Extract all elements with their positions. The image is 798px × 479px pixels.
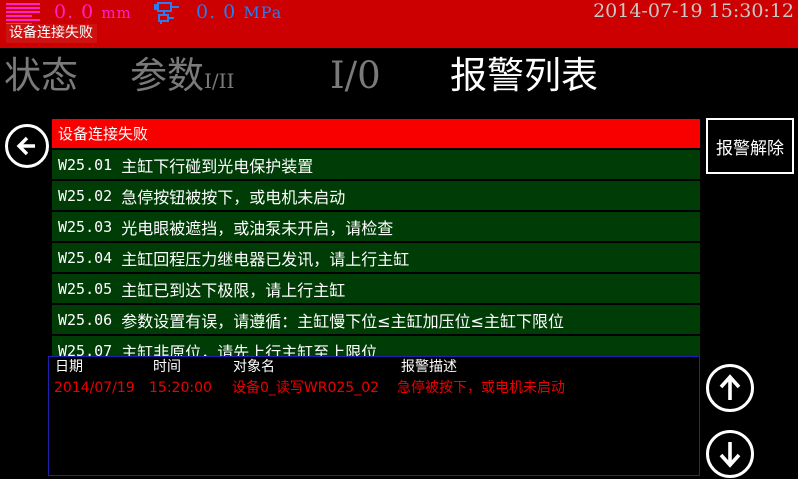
alarm-log-table[interactable]: 日期 时间 对象名 报警描述 2014/07/1915:20:00设备0_读写W… <box>48 356 700 476</box>
log-table-row[interactable]: 2014/07/1915:20:00设备0_读写WR025_02急停被按下，或电… <box>49 378 699 399</box>
hmi-screen: 0. 0 mm 0. 0 MPa 2014-07-19 15:30:12 设备连… <box>0 0 798 479</box>
tab-status[interactable]: 状态 <box>4 50 78 102</box>
alarm-code: W25.02 <box>52 187 112 205</box>
alarm-row[interactable]: W25.01主缸下行碰到光电保护装置 <box>52 150 700 179</box>
alarm-code: W25.05 <box>52 280 112 298</box>
tab-status-label: 状态 <box>4 54 78 97</box>
status-bar: 0. 0 mm 0. 0 MPa 2014-07-19 15:30:12 设备连… <box>0 0 798 44</box>
log-cell-date: 2014/07/19 <box>54 378 135 399</box>
alarm-code: W25.03 <box>52 218 112 236</box>
alarm-code: W25.06 <box>52 311 112 329</box>
alarm-text: 急停按钮被按下，或电机未启动 <box>112 184 345 208</box>
position-value: 0. 0 <box>54 1 94 23</box>
tab-io[interactable]: I/0 <box>330 50 381 102</box>
scroll-down-button[interactable] <box>706 430 754 478</box>
connection-status-badge: 设备连接失败 <box>6 24 97 43</box>
datetime-display: 2014-07-19 15:30:12 <box>593 0 794 22</box>
alarm-text: 参数设置有误，请遵循：主缸慢下位≤主缸加压位≤主缸下限位 <box>112 308 564 332</box>
alarm-text: 主缸已到达下极限，请上行主缸 <box>112 277 345 301</box>
down-arrow-icon <box>709 433 751 475</box>
log-cell-object: 设备0_读写WR025_02 <box>232 378 379 399</box>
pressure-value: 0. 0 <box>196 1 236 23</box>
alarm-row[interactable]: W25.02急停按钮被按下，或电机未启动 <box>52 181 700 210</box>
pressure-readout: 0. 0 MPa <box>196 1 282 23</box>
scroll-up-button[interactable] <box>706 364 754 412</box>
log-cell-time: 15:20:00 <box>149 378 212 399</box>
position-readout: 0. 0 mm <box>54 1 132 23</box>
alarm-code: W25.04 <box>52 249 112 267</box>
alarm-text: 光电眼被遮挡，或油泵未开启，请检查 <box>112 215 393 239</box>
alarm-reset-button[interactable]: 报警解除 <box>706 118 794 174</box>
alarm-text: 设备连接失败 <box>52 123 148 144</box>
tab-parameters-sub: I/II <box>204 69 234 93</box>
pressure-unit: MPa <box>243 3 282 22</box>
tab-io-label: I/0 <box>330 54 381 97</box>
up-arrow-icon <box>709 367 751 409</box>
alarm-row[interactable]: W25.05主缸已到达下极限，请上行主缸 <box>52 274 700 303</box>
alarm-code: W25.01 <box>52 156 112 174</box>
alarm-text: 主缸回程压力继电器已发讯，请上行主缸 <box>112 246 409 270</box>
back-arrow-icon <box>8 127 46 165</box>
log-table-header: 日期 时间 对象名 报警描述 <box>49 357 699 378</box>
ruler-icon <box>6 3 40 24</box>
alarm-row[interactable]: W25.06参数设置有误，请遵循：主缸慢下位≤主缸加压位≤主缸下限位 <box>52 305 700 334</box>
log-col-date: 日期 <box>55 357 83 378</box>
alarm-row[interactable]: W25.03光电眼被遮挡，或油泵未开启，请检查 <box>52 212 700 241</box>
tab-parameters-label: 参数 <box>130 54 204 97</box>
log-col-desc: 报警描述 <box>401 357 457 378</box>
hydraulic-pressure-icon <box>152 1 182 25</box>
tab-parameters[interactable]: 参数I/II <box>130 50 234 107</box>
log-col-time: 时间 <box>153 357 181 378</box>
alarm-text: 主缸下行碰到光电保护装置 <box>112 153 313 177</box>
back-button[interactable] <box>5 124 49 168</box>
log-table-body: 2014/07/1915:20:00设备0_读写WR025_02急停被按下，或电… <box>49 378 699 399</box>
tab-alarm-list[interactable]: 报警列表 <box>450 50 598 102</box>
position-unit: mm <box>101 4 131 22</box>
nav-tabs: 状态 参数I/II I/0 报警列表 <box>0 48 798 106</box>
alarm-list[interactable]: 设备连接失败W25.01主缸下行碰到光电保护装置W25.02急停按钮被按下，或电… <box>52 119 700 367</box>
log-cell-description: 急停被按下，或电机未启动 <box>397 378 565 399</box>
alarm-reset-label: 报警解除 <box>716 134 784 159</box>
alarm-row[interactable]: 设备连接失败 <box>52 119 700 148</box>
alarm-row[interactable]: W25.04主缸回程压力继电器已发讯，请上行主缸 <box>52 243 700 272</box>
tab-alarm-list-label: 报警列表 <box>450 54 598 97</box>
log-col-object: 对象名 <box>233 357 275 378</box>
